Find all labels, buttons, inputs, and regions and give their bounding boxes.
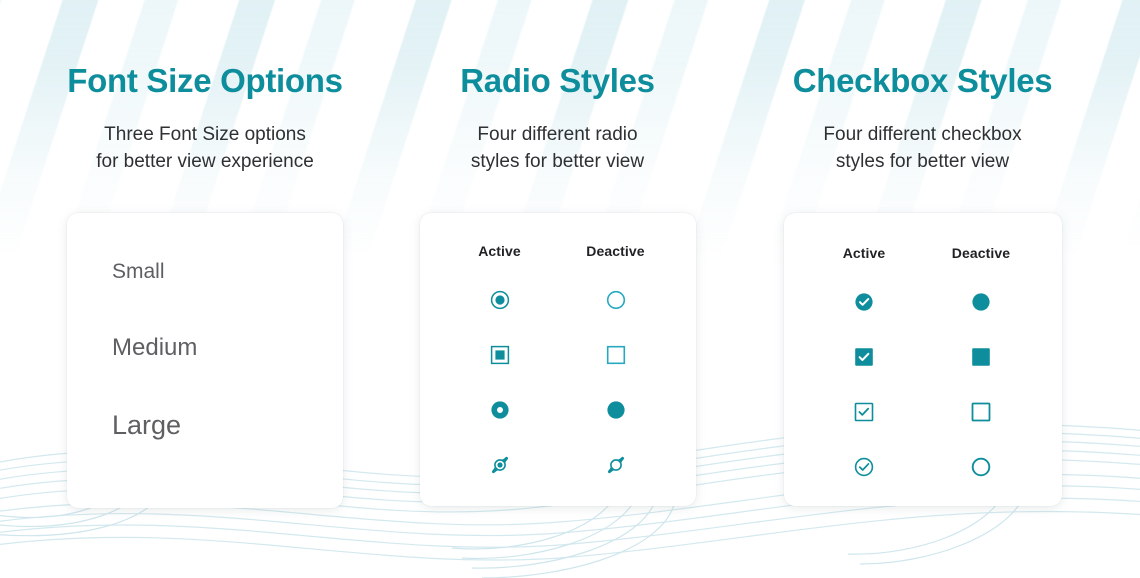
check-square-outline-icon[interactable] [806,398,923,426]
page-title-checkbox-styles: Checkbox Styles [793,62,1053,101]
radio-styles-column: Radio Styles Four different radio styles… [410,62,705,506]
checkbox-styles-column: Checkbox Styles Four different checkbox … [705,62,1140,506]
radio-row [442,396,674,424]
section-subtitle-font-size: Three Font Size options for better view … [96,101,314,176]
radio-grid-header: Active Deactive [420,243,696,259]
empty-square-icon[interactable] [923,398,1040,426]
radio-empty-square-icon[interactable] [558,341,674,369]
checkbox-row [806,343,1040,371]
page-title-font-size: Font Size Options [67,62,342,101]
column-header-active: Active [442,243,558,259]
font-size-option-large[interactable]: Large [112,412,343,439]
radio-row [442,451,674,479]
column-header-active: Active [806,245,923,261]
checkbox-styles-panel: Active Deactive [784,213,1062,506]
check-circle-outline-icon[interactable] [806,453,923,481]
radio-filled-ring-icon[interactable] [442,286,558,314]
radio-slashed-circle-filled-icon[interactable] [442,451,558,479]
checkbox-grid-rows [784,288,1062,481]
section-subtitle-checkbox-styles: Four different checkbox styles for bette… [823,101,1021,176]
solid-square-icon[interactable] [923,343,1040,371]
radio-empty-circle-icon[interactable] [558,286,674,314]
font-size-option-small[interactable]: Small [112,261,343,282]
solid-circle-icon[interactable] [923,288,1040,316]
page-title-radio-styles: Radio Styles [460,62,654,101]
radio-slashed-circle-outline-icon[interactable] [558,451,674,479]
check-square-filled-icon[interactable] [806,343,923,371]
checkbox-row [806,288,1040,316]
font-size-options-column: Font Size Options Three Font Size option… [0,62,410,508]
section-subtitle-radio-styles: Four different radio styles for better v… [471,101,644,176]
empty-circle-icon[interactable] [923,453,1040,481]
font-size-option-medium[interactable]: Medium [112,336,343,360]
checkbox-row [806,453,1040,481]
font-size-panel: Small Medium Large [67,213,343,508]
feature-columns: Font Size Options Three Font Size option… [0,0,1140,508]
radio-solid-circle-icon[interactable] [558,396,674,424]
column-header-deactive: Deactive [923,245,1040,261]
check-circle-filled-icon[interactable] [806,288,923,316]
radio-row [442,341,674,369]
radio-styles-panel: Active Deactive [420,213,696,506]
radio-donut-icon[interactable] [442,396,558,424]
radio-row [442,286,674,314]
radio-grid-rows [420,286,696,479]
checkbox-row [806,398,1040,426]
checkbox-grid-header: Active Deactive [784,245,1062,261]
radio-filled-square-ring-icon[interactable] [442,341,558,369]
column-header-deactive: Deactive [558,243,674,259]
